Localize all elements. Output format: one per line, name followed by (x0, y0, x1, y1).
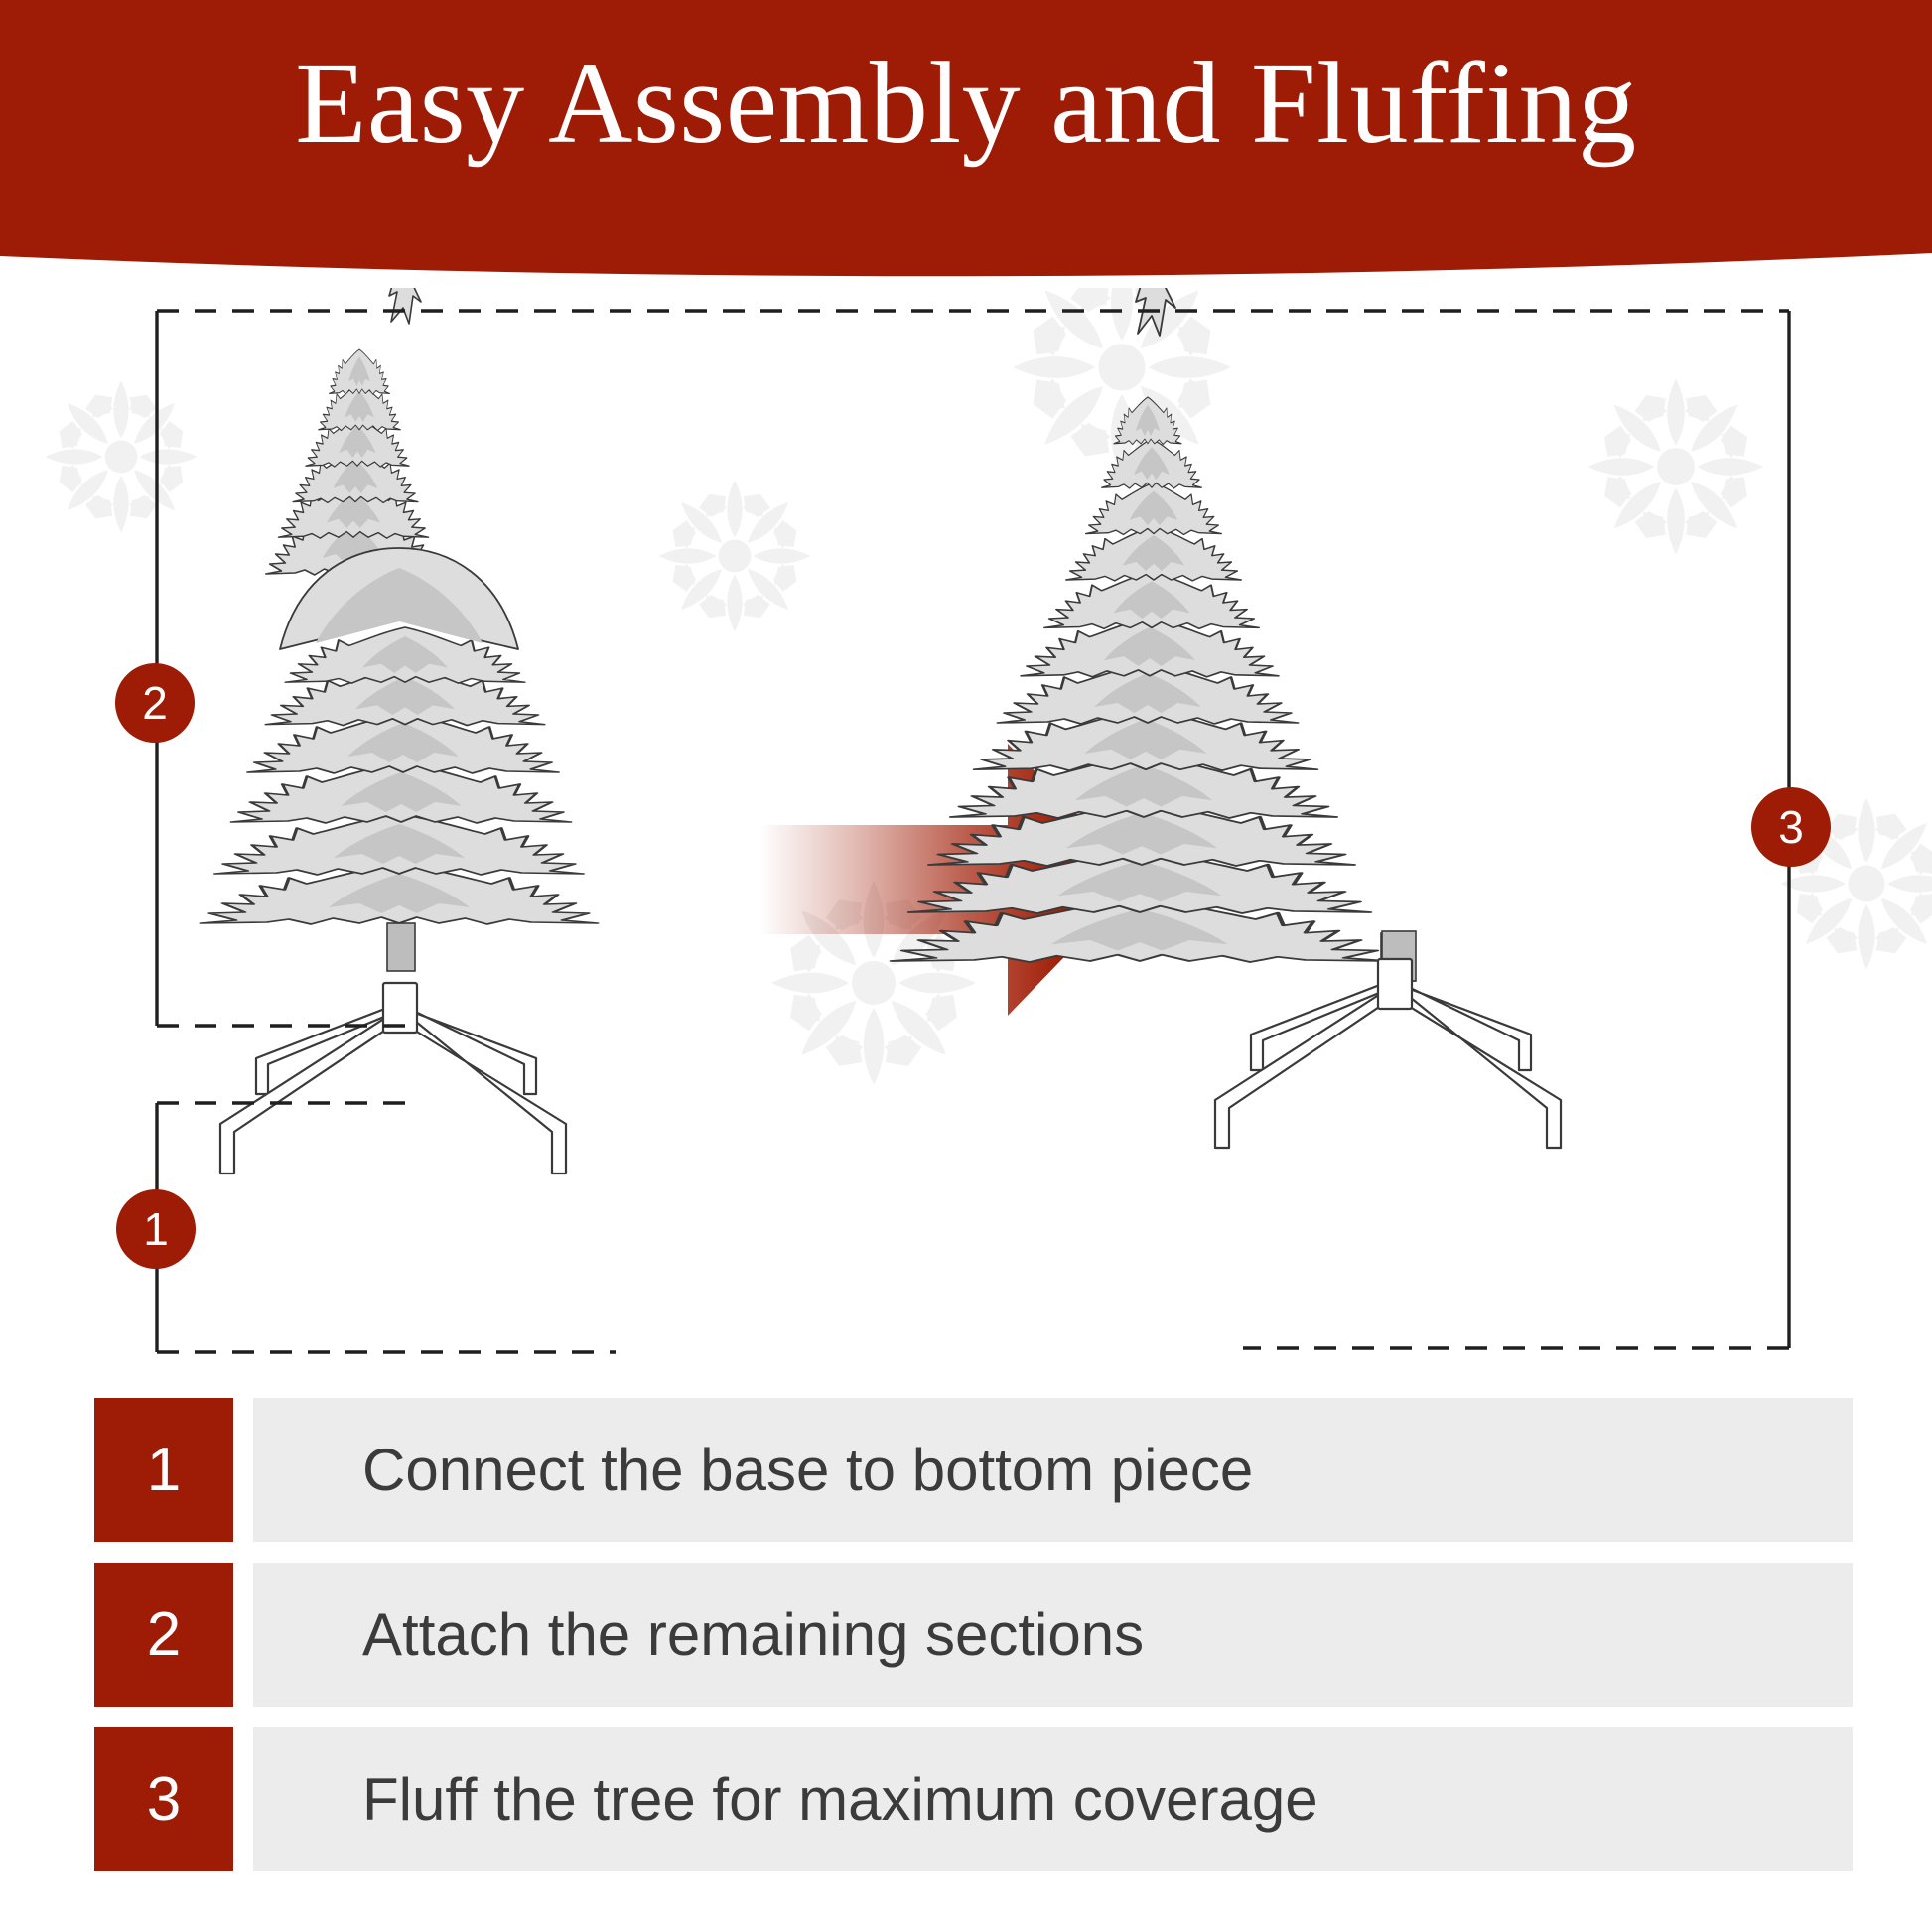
header-banner: Easy Assembly and Fluffing (0, 0, 1932, 298)
page-title: Easy Assembly and Fluffing (0, 30, 1932, 177)
step-3-number-badge: 3 (94, 1727, 233, 1871)
tree-bottom-section (201, 548, 598, 1173)
step-list: 1 Connect the base to bottom piece 2 Att… (94, 1398, 1853, 1871)
marker-2-label: 2 (142, 677, 168, 729)
step-1-text: Connect the base to bottom piece (253, 1398, 1853, 1542)
tree-stand-assembled (1215, 959, 1561, 1148)
marker-2[interactable]: 2 (115, 663, 195, 743)
step-2-number-badge: 2 (94, 1563, 233, 1707)
tree-assembled-full (892, 288, 1561, 1148)
marker-3-label: 3 (1778, 801, 1804, 853)
step-2-text: Attach the remaining sections (253, 1563, 1853, 1707)
infographic-page: Easy Assembly and Fluffing (0, 0, 1932, 1932)
step-row-1: 1 Connect the base to bottom piece (94, 1398, 1853, 1542)
step-3-text: Fluff the tree for maximum coverage (253, 1727, 1853, 1871)
marker-1[interactable]: 1 (116, 1189, 196, 1269)
marker-3[interactable]: 3 (1751, 787, 1831, 867)
step-row-3: 3 Fluff the tree for maximum coverage (94, 1727, 1853, 1871)
marker-1-label: 1 (143, 1203, 169, 1255)
step-row-2: 2 Attach the remaining sections (94, 1563, 1853, 1707)
step-1-number-badge: 1 (94, 1398, 233, 1542)
assembly-diagram: 2 1 3 (0, 288, 1932, 1400)
tree-stand (220, 983, 566, 1173)
